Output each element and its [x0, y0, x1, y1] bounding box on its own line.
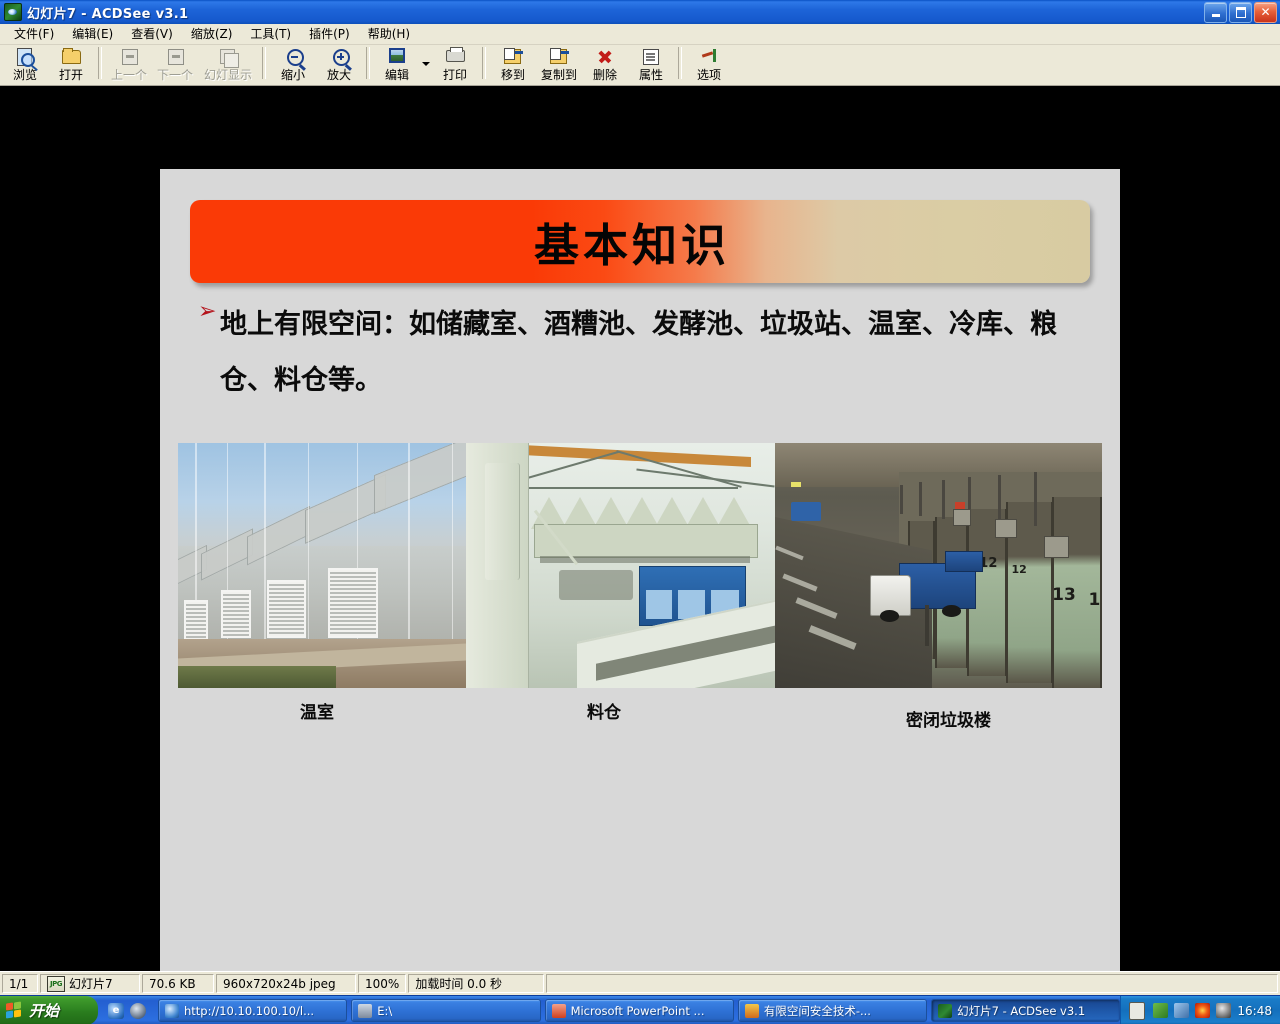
- zoom-out-button[interactable]: 缩小: [270, 45, 316, 85]
- photo-strip: 12 12 13 1: [178, 443, 1102, 688]
- menu-file[interactable]: 文件(F): [5, 23, 63, 45]
- menu-help[interactable]: 帮助(H): [359, 23, 419, 45]
- menu-zoom[interactable]: 缩放(Z): [182, 23, 242, 45]
- toolbar-separator: [262, 47, 266, 79]
- status-filename: JPG 幻灯片7: [40, 974, 140, 993]
- open-label: 打开: [59, 68, 83, 82]
- menu-edit[interactable]: 编辑(E): [63, 23, 122, 45]
- maximize-button[interactable]: [1229, 2, 1252, 23]
- previous-label: 上一个: [111, 68, 147, 82]
- window-title: 幻灯片7 - ACDSee v3.1: [27, 3, 188, 22]
- taskbar-item-explorer-label: E:\: [377, 1004, 392, 1018]
- status-dimensions: 960x720x24b jpeg: [216, 974, 356, 993]
- powerpoint-icon: [552, 1004, 566, 1018]
- photo-captions: 温室 料仓 密闭垃圾楼: [178, 694, 1102, 744]
- photo-material-silo: [466, 443, 775, 688]
- taskbar-buttons: http://10.10.100.10/l... E:\ Microsoft P…: [154, 999, 1120, 1022]
- taskbar-item-powerpoint[interactable]: Microsoft PowerPoint ...: [545, 999, 734, 1022]
- taskbar-item-powerpoint-label: Microsoft PowerPoint ...: [571, 1004, 705, 1018]
- menubar: 文件(F) 编辑(E) 查看(V) 缩放(Z) 工具(T) 插件(P) 帮助(H…: [0, 24, 1280, 45]
- slideshow-icon: [217, 47, 239, 67]
- edit-label: 编辑: [385, 68, 409, 82]
- status-load-time: 加载时间 0.0 秒: [408, 974, 544, 993]
- move-to-button[interactable]: 移到: [490, 45, 536, 85]
- minimize-button[interactable]: [1204, 2, 1227, 23]
- jpg-file-icon: JPG: [47, 976, 65, 992]
- status-page-index: 1/1: [2, 974, 38, 993]
- bay-number: 1: [1089, 590, 1101, 610]
- slideshow-label: 幻灯显示: [204, 68, 252, 82]
- slide-body: ➢ 地上有限空间：如储藏室、酒糟池、发酵池、垃圾站、温室、冷库、粮仓、料仓等。: [198, 297, 1088, 409]
- menu-tools[interactable]: 工具(T): [241, 23, 300, 45]
- printer-icon: [444, 47, 466, 67]
- arrow-left-icon: [118, 47, 140, 67]
- zoom-in-label: 放大: [327, 68, 351, 82]
- toolbar-separator: [482, 47, 486, 79]
- toolbar-separator: [678, 47, 682, 79]
- arrow-right-icon: [164, 47, 186, 67]
- delete-button[interactable]: 删除: [582, 45, 628, 85]
- browse-label: 浏览: [13, 68, 37, 82]
- previous-button[interactable]: 上一个: [106, 45, 152, 85]
- page-title: 基本知识: [534, 209, 730, 274]
- print-button[interactable]: 打印: [432, 45, 478, 85]
- status-filesize: 70.6 KB: [142, 974, 214, 993]
- browse-button[interactable]: 浏览: [2, 45, 48, 85]
- bay-number: 12: [1011, 563, 1026, 576]
- waste-station-scene: 12 12 13 1: [775, 443, 1102, 688]
- caption-enclosed-waste-building: 密闭垃圾楼: [906, 706, 991, 731]
- toolbar-separator: [366, 47, 370, 79]
- copy-to-icon: [548, 47, 570, 67]
- start-button[interactable]: 开始: [0, 996, 98, 1024]
- image-viewer[interactable]: 基本知识 ➢ 地上有限空间：如储藏室、酒糟池、发酵池、垃圾站、温室、冷库、粮仓、…: [0, 86, 1280, 971]
- options-button[interactable]: 选项: [686, 45, 732, 85]
- keyboard-layout-icon[interactable]: [1129, 1002, 1145, 1020]
- taskbar-item-browser-label: http://10.10.100.10/l...: [184, 1004, 314, 1018]
- bullet-text: 地上有限空间：如储藏室、酒糟池、发酵池、垃圾站、温室、冷库、粮仓、料仓等。: [220, 297, 1088, 409]
- slide-canvas: 基本知识 ➢ 地上有限空间：如储藏室、酒糟池、发酵池、垃圾站、温室、冷库、粮仓、…: [160, 169, 1120, 975]
- copy-to-button[interactable]: 复制到: [536, 45, 582, 85]
- slide-title-banner: 基本知识: [190, 200, 1090, 283]
- window-controls: ✕: [1204, 2, 1277, 23]
- edit-button[interactable]: 编辑: [374, 45, 420, 85]
- options-label: 选项: [697, 68, 721, 82]
- acdsee-icon: [4, 3, 22, 21]
- next-button[interactable]: 下一个: [152, 45, 198, 85]
- arrow-bullet-icon: ➢: [198, 303, 218, 321]
- zoom-out-label: 缩小: [281, 68, 305, 82]
- zoom-out-icon: [282, 47, 304, 67]
- acdsee-icon: [938, 1004, 952, 1018]
- taskbar-item-acdsee-label: 幻灯片7 - ACDSee v3.1: [957, 1003, 1085, 1019]
- volume-icon[interactable]: [1216, 1003, 1231, 1018]
- photo-enclosed-waste-building: 12 12 13 1: [775, 443, 1102, 688]
- delete-x-icon: [594, 47, 616, 67]
- status-extra: [546, 974, 1278, 993]
- open-button[interactable]: 打开: [48, 45, 94, 85]
- close-button[interactable]: ✕: [1254, 2, 1277, 23]
- desktop-screen: 幻灯片7 - ACDSee v3.1 ✕ 文件(F) 编辑(E) 查看(V) 缩…: [0, 0, 1280, 1024]
- taskbar-item-browser[interactable]: http://10.10.100.10/l...: [158, 999, 347, 1022]
- status-filename-text: 幻灯片7: [69, 975, 113, 992]
- properties-icon: [640, 47, 662, 67]
- start-label: 开始: [29, 1000, 59, 1021]
- chevron-down-icon: [422, 62, 430, 66]
- quicklaunch-stop-icon[interactable]: [130, 1003, 146, 1019]
- silo-scene: [466, 443, 775, 688]
- zoom-in-button[interactable]: 放大: [316, 45, 362, 85]
- caption-material-silo: 料仓: [587, 698, 621, 723]
- taskbar-item-acdsee[interactable]: 幻灯片7 - ACDSee v3.1: [931, 999, 1120, 1022]
- drive-icon: [358, 1004, 372, 1018]
- print-label: 打印: [443, 68, 467, 82]
- copy-to-label: 复制到: [541, 68, 577, 82]
- window-titlebar: 幻灯片7 - ACDSee v3.1 ✕: [0, 0, 1280, 24]
- next-label: 下一个: [157, 68, 193, 82]
- slideshow-button[interactable]: 幻灯显示: [198, 45, 258, 85]
- taskbar-item-explorer[interactable]: E:\: [351, 999, 540, 1022]
- properties-button[interactable]: 属性: [628, 45, 674, 85]
- photo-greenhouse: [178, 443, 466, 688]
- move-to-icon: [502, 47, 524, 67]
- open-folder-icon: [60, 47, 82, 67]
- caption-greenhouse: 温室: [300, 698, 334, 723]
- network-icon[interactable]: [1153, 1003, 1168, 1018]
- toolbar: 浏览 打开 上一个 下一个 幻灯显示 缩小 放大: [0, 45, 1280, 86]
- display-icon[interactable]: [1174, 1003, 1189, 1018]
- properties-label: 属性: [639, 68, 663, 82]
- taskbar-item-document-label: 有限空间安全技术-...: [764, 1003, 871, 1019]
- edit-dropdown-button[interactable]: [420, 45, 432, 83]
- options-tools-icon: [698, 47, 720, 67]
- system-tray: 16:48: [1120, 996, 1280, 1024]
- menu-plugins[interactable]: 插件(P): [300, 23, 359, 45]
- move-to-label: 移到: [501, 68, 525, 82]
- bullet-item: ➢ 地上有限空间：如储藏室、酒糟池、发酵池、垃圾站、温室、冷库、粮仓、料仓等。: [198, 297, 1088, 409]
- menu-view[interactable]: 查看(V): [122, 23, 182, 45]
- book-icon: [745, 1004, 759, 1018]
- edit-image-icon: [386, 47, 408, 67]
- bay-number: 13: [1052, 585, 1076, 605]
- antivirus-icon[interactable]: [1195, 1003, 1210, 1018]
- ie-icon: [165, 1004, 179, 1018]
- close-icon: ✕: [1260, 6, 1270, 18]
- clock[interactable]: 16:48: [1237, 1004, 1272, 1018]
- toolbar-separator: [98, 47, 102, 79]
- greenhouse-scene: [178, 443, 466, 688]
- windows-logo-icon: [6, 1002, 23, 1019]
- taskbar-item-document[interactable]: 有限空间安全技术-...: [738, 999, 927, 1022]
- status-zoom-level: 100%: [358, 974, 406, 993]
- zoom-in-icon: [328, 47, 350, 67]
- statusbar: 1/1 JPG 幻灯片7 70.6 KB 960x720x24b jpeg 10…: [0, 971, 1280, 995]
- taskbar: 开始 e http://10.10.100.10/l... E:\ Micros…: [0, 995, 1280, 1024]
- browse-icon: [14, 47, 36, 67]
- quicklaunch-ie-icon[interactable]: e: [108, 1003, 124, 1019]
- delete-label: 删除: [593, 68, 617, 82]
- quick-launch-bar: e: [100, 1003, 154, 1019]
